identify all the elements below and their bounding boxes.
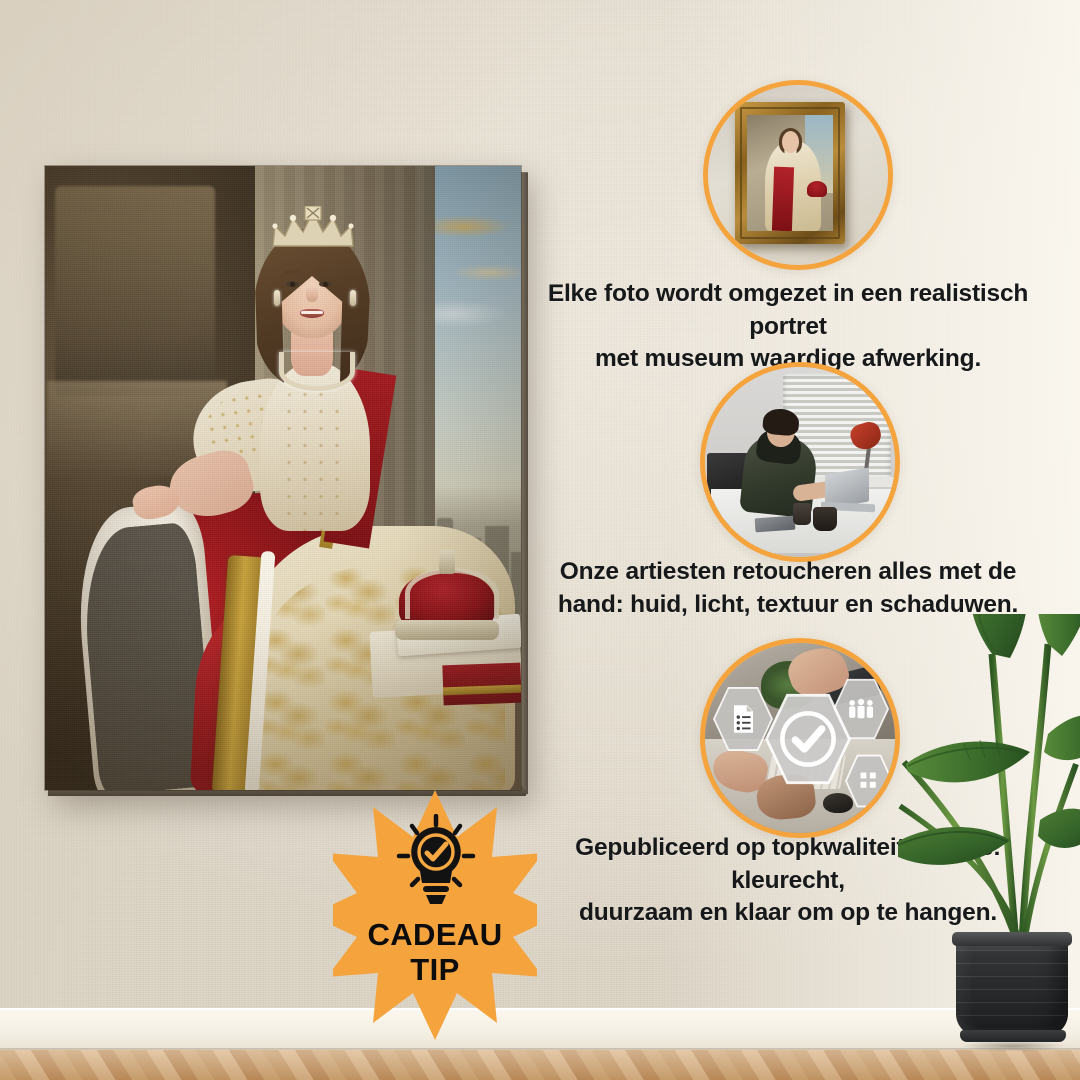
feature-1-photo[interactable] — [703, 80, 893, 270]
cadeau-tip-badge[interactable]: CADEAU TIP — [333, 790, 537, 1040]
badge-line-2: TIP — [333, 953, 537, 988]
badge-line-1: CADEAU — [333, 918, 537, 953]
wall-tool — [840, 248, 870, 265]
feature-2-caption: Onze artiesten retoucheren alles met de … — [528, 556, 1048, 621]
framed-portrait-photo — [708, 85, 888, 265]
feature-2-photo[interactable] — [700, 362, 900, 562]
quality-check-photo — [705, 643, 895, 833]
lightbulb-check-icon — [395, 814, 477, 910]
painting-imperial-crown — [391, 548, 503, 644]
strelitzia-plant — [898, 614, 1080, 1080]
feature-3-photo[interactable] — [700, 638, 900, 838]
feature-2-caption-line1: Onze artiesten retoucheren alles met de — [528, 556, 1048, 589]
painting-necklace — [279, 352, 355, 391]
feature-1-caption-line1: Elke foto wordt omgezet in een realistis… — [528, 278, 1048, 343]
gold-frame — [735, 102, 845, 244]
scene: Elke foto wordt omgezet in een realistis… — [0, 0, 1080, 1080]
mouse — [823, 793, 853, 813]
portrait-painting — [45, 166, 521, 790]
pot-saucer — [960, 1030, 1066, 1042]
feature-1-caption: Elke foto wordt omgezet in een realistis… — [528, 278, 1048, 376]
badge-text: CADEAU TIP — [333, 918, 537, 987]
coffee-cup — [793, 503, 811, 525]
canvas-artwork[interactable] — [45, 166, 523, 794]
artist-at-desk-photo — [705, 367, 895, 557]
painting-crown-icon — [269, 206, 357, 250]
desk-pot — [813, 507, 837, 531]
